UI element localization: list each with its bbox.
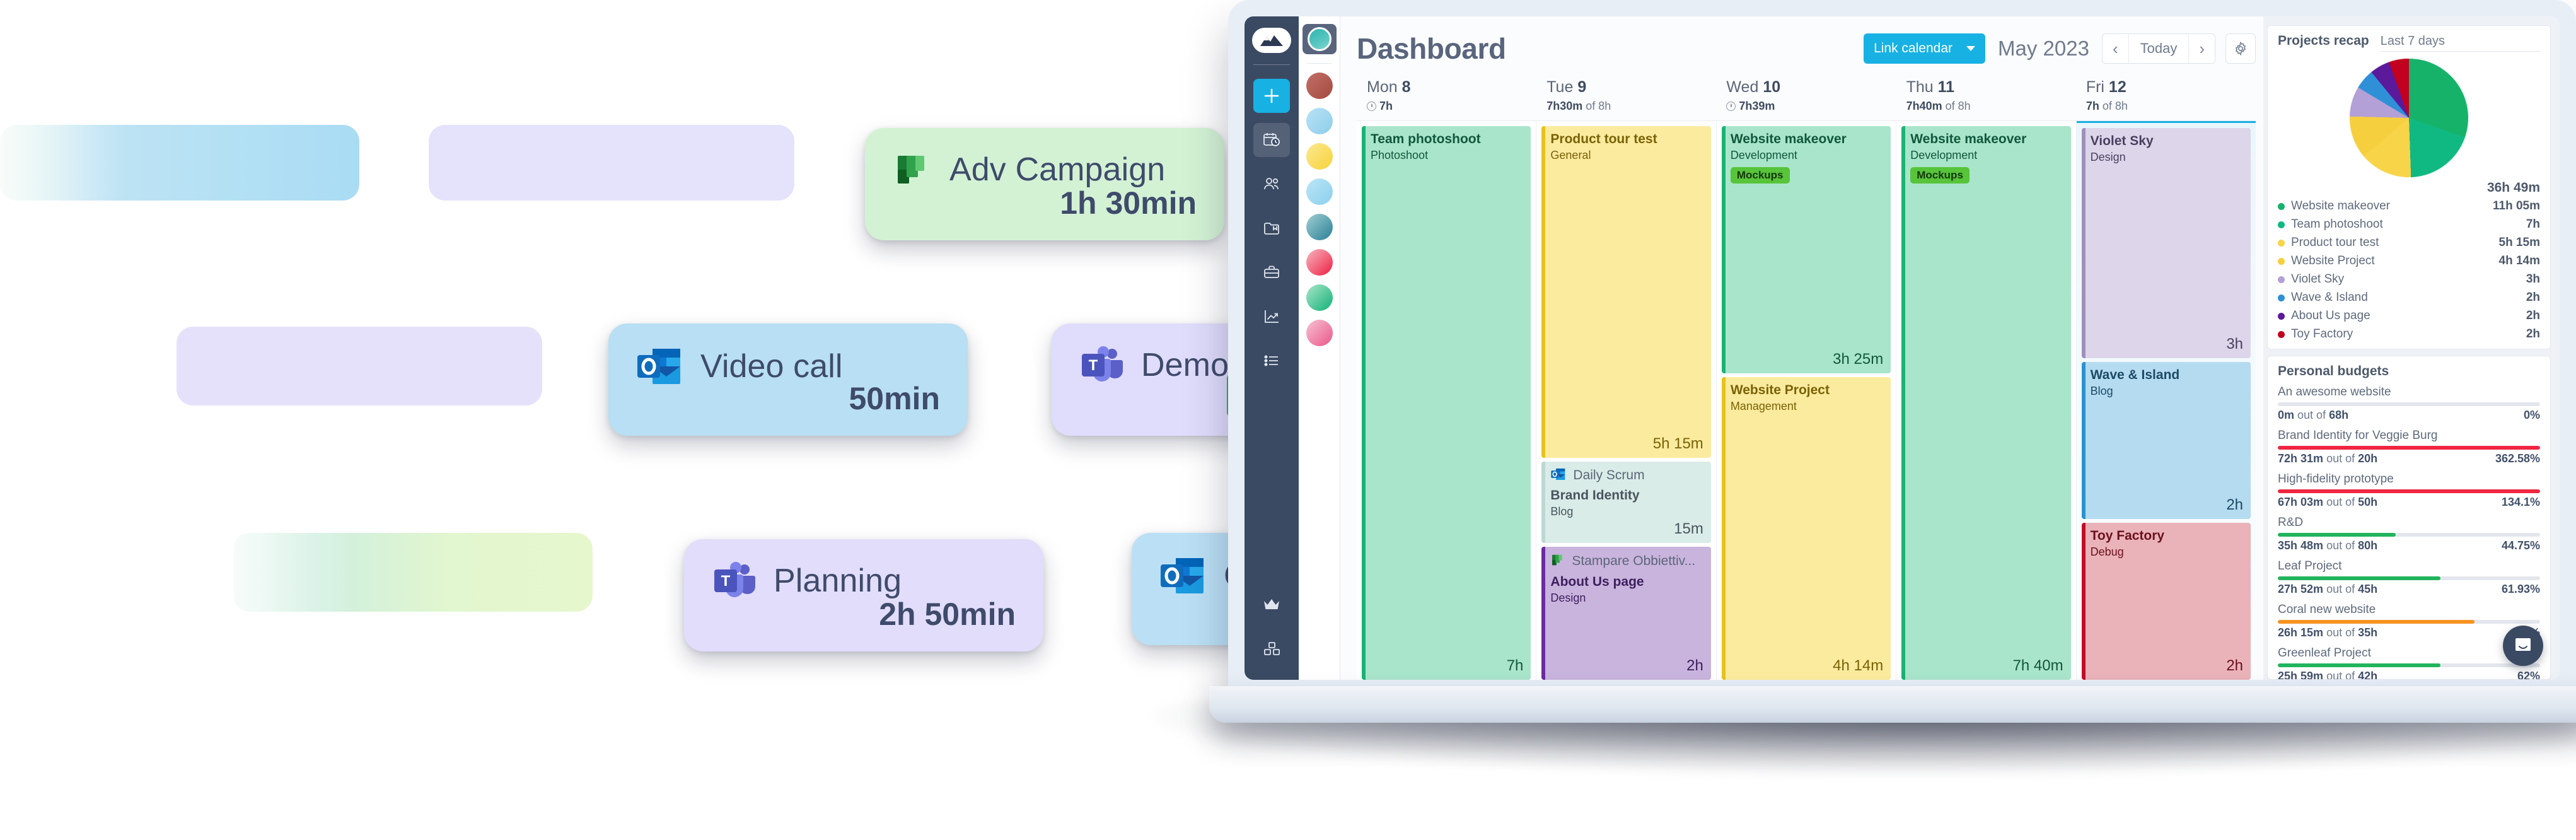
budget-of: out of (2326, 452, 2355, 465)
sidebar-item-integrations[interactable] (1253, 632, 1290, 666)
link-calendar-label: Link calendar (1874, 41, 1952, 56)
avatar[interactable] (1306, 178, 1333, 205)
budget-percent: 0% (2524, 409, 2540, 422)
legend-label: Wave & Island (2291, 291, 2520, 305)
event-source-title: Stampare Obbiettiv... (1572, 554, 1695, 569)
sidebar-item-timesheet[interactable] (1253, 123, 1290, 157)
legend-value: 7h (2526, 218, 2540, 231)
laptop-base (1209, 686, 2576, 723)
day-tracked: 7h30mof 8h (1546, 100, 1716, 113)
composition-stage: Adv Campaign 1h 30min (0, 0, 2576, 840)
event-subtitle: Debug (2091, 545, 2243, 559)
event-block[interactable]: Website makeover Development Mockups 7h … (1901, 126, 2070, 680)
legend-label: Website makeover (2291, 199, 2486, 213)
laptop-lid: Dashboard Link calendar May 2023 ‹ Today… (1228, 0, 2576, 692)
budget-spent: 26h 15m (2278, 626, 2323, 639)
sidebar-item-clients[interactable] (1253, 255, 1290, 289)
side-panel: Projects recap Last 7 days 36h 49m (2263, 16, 2560, 680)
event-block[interactable]: Toy Factory Debug 2h (2082, 523, 2251, 680)
day-column-fri: Violet Sky Design 3h Wave & Island Blog … (2077, 121, 2256, 680)
avatar[interactable] (1306, 320, 1333, 346)
legend-value: 2h (2526, 327, 2540, 341)
legend-value: 11h 05m (2493, 199, 2540, 213)
event-subtitle: Photoshoot (1371, 148, 1523, 163)
event-title: Violet Sky (2091, 134, 2243, 149)
event-subtitle: General (1550, 148, 1703, 163)
budget-item: Coral new website 26h 15m out of 35h 75% (2278, 603, 2540, 639)
budget-of: out of (2326, 583, 2355, 596)
budget-of: out of (2326, 670, 2355, 680)
event-duration: 2h (2226, 496, 2243, 514)
day-label: Mon 8 (1367, 78, 1536, 96)
event-duration: 7h 40m (2013, 657, 2063, 675)
event-subtitle: Development (1910, 148, 2063, 163)
svg-text:T: T (721, 573, 731, 590)
event-title: Brand Identity (1550, 488, 1703, 503)
recap-range-select[interactable]: Last 7 days (2381, 34, 2540, 52)
event-duration: 2h (2226, 657, 2243, 675)
budget-progress-track (2278, 446, 2540, 450)
pie-legend: Website makeover11h 05mTeam photoshoot7h… (2278, 199, 2540, 341)
event-source-row: Stampare Obbiettiv... (1550, 552, 1703, 571)
budget-meta: 25h 59m out of 42h 62% (2278, 670, 2540, 680)
budget-item: An awesome website 0m out of 68h 0% (2278, 385, 2540, 422)
legend-color-dot (2278, 221, 2285, 228)
budget-progress-fill (2278, 576, 2440, 580)
day-tracked: 7hof 8h (2086, 100, 2256, 113)
budget-percent: 61.93% (2502, 583, 2540, 596)
budget-progress-fill (2278, 446, 2540, 450)
budget-list: An awesome website 0m out of 68h 0% Bran… (2278, 385, 2540, 680)
legend-label: Toy Factory (2291, 327, 2520, 341)
microsoft-teams-icon: T (712, 561, 757, 601)
placeholder-card-lilac-mid (177, 327, 542, 405)
day-header-mon: Mon 8 7h (1357, 78, 1536, 120)
event-block[interactable]: Wave & Island Blog 2h (2082, 362, 2251, 519)
budget-item: High-fidelity prototype 67h 03m out of 5… (2278, 472, 2540, 509)
event-title: Toy Factory (2091, 528, 2243, 544)
event-title: Website makeover (1910, 132, 2063, 147)
microsoft-planner-icon (893, 149, 933, 190)
calendar-toolbar: Dashboard Link calendar May 2023 ‹ Today… (1357, 28, 2256, 78)
placeholder-card-blue (0, 125, 359, 201)
budget-total: 68h (2329, 409, 2348, 422)
budget-name: Coral new website (2278, 603, 2540, 617)
legend-color-dot (2278, 240, 2285, 247)
event-tag: Mockups (1910, 167, 1970, 184)
budget-total: 80h (2358, 539, 2377, 552)
app-screen: Dashboard Link calendar May 2023 ‹ Today… (1244, 16, 2560, 680)
budget-meta: 26h 15m out of 35h 75% (2278, 626, 2540, 639)
clock-icon (1726, 102, 1736, 111)
event-duration: 4h 14m (1833, 657, 1883, 675)
event-source-title: Daily Scrum (1573, 468, 1644, 483)
budget-item: Brand Identity for Veggie Burg 72h 31m o… (2278, 429, 2540, 465)
placeholder-card-lilac-top (429, 125, 794, 201)
legend-row: Violet Sky3h (2278, 272, 2540, 286)
prev-week-button[interactable]: ‹ (2103, 34, 2128, 63)
date-nav-group: ‹ Today › (2102, 33, 2215, 64)
legend-label: Violet Sky (2291, 272, 2520, 286)
event-title: Team photoshoot (1371, 132, 1523, 147)
budget-progress-track (2278, 533, 2540, 537)
budgets-title: Personal budgets (2278, 364, 2540, 379)
microsoft-outlook-icon (1550, 467, 1567, 484)
budget-of: out of (2326, 496, 2355, 509)
svg-text:T: T (1089, 357, 1098, 374)
budget-percent: 362.58% (2495, 452, 2540, 465)
legend-row: Team photoshoot7h (2278, 218, 2540, 231)
budget-name: Leaf Project (2278, 559, 2540, 573)
rail-divider (1253, 64, 1290, 65)
event-source-row: Daily Scrum (1550, 467, 1703, 484)
day-column-thu: Website makeover Development Mockups 7h … (1896, 121, 2076, 680)
event-block[interactable]: Website makeover Development Mockups 3h … (1722, 126, 1891, 373)
budget-spent: 35h 48m (2278, 539, 2323, 552)
day-label: Tue 9 (1546, 78, 1716, 96)
gear-icon[interactable] (2225, 33, 2256, 64)
budget-progress-track (2278, 663, 2540, 667)
budget-progress-fill (2278, 620, 2474, 624)
month-label: May 2023 (1995, 37, 2092, 61)
pie-chart-wrap (2278, 58, 2540, 178)
event-title: Website makeover (1731, 132, 1883, 147)
card-duration: 2h 50min (879, 596, 1016, 633)
projects-recap-card: Projects recap Last 7 days 36h 49m (2267, 25, 2551, 349)
budget-spent: 72h 31m (2278, 452, 2323, 465)
day-tracked: 7h39m (1726, 100, 1896, 113)
budget-total: 50h (2358, 496, 2377, 509)
event-title: Website Project (1731, 383, 1883, 398)
card-duration: 50min (849, 380, 940, 417)
event-subtitle: Blog (1550, 505, 1703, 519)
budget-progress-track (2278, 402, 2540, 406)
budget-percent: 62% (2517, 670, 2540, 680)
current-user-avatar[interactable] (1303, 24, 1337, 54)
chevron-down-icon (1966, 46, 1975, 51)
card-adv-campaign[interactable]: Adv Campaign 1h 30min (865, 128, 1224, 240)
placeholder-card-green (233, 533, 593, 612)
event-block[interactable]: Product tour test General 5h 15m (1541, 126, 1710, 458)
legend-value: 2h (2526, 291, 2540, 305)
card-title: Video call (700, 347, 843, 385)
day-tracked: 7h40mof 8h (1906, 100, 2076, 113)
legend-label: Product tour test (2291, 236, 2493, 250)
day-header-tue: Tue 9 7h30mof 8h (1536, 78, 1716, 120)
budget-progress-fill (2278, 489, 2540, 493)
day-header-fri: Fri 12 7hof 8h (2076, 78, 2256, 120)
avatar-divider (1307, 63, 1332, 64)
legend-value: 5h 15m (2499, 236, 2540, 250)
card-title: Adv Campaign (949, 151, 1165, 189)
card-title: Planning (774, 562, 902, 600)
budget-of: out of (2326, 626, 2355, 639)
legend-value: 4h 14m (2499, 254, 2540, 268)
budget-spent: 27h 52m (2278, 583, 2323, 596)
legend-color-dot (2278, 295, 2285, 301)
legend-label: About Us page (2291, 309, 2520, 323)
budget-item: R&D 35h 48m out of 80h 44.75% (2278, 516, 2540, 552)
budget-percent: 44.75% (2502, 539, 2540, 552)
day-column-tue: Product tour test General 5h 15m (1536, 121, 1716, 680)
day-label: Thu 11 (1906, 78, 2076, 96)
event-duration: 2h (1686, 657, 1703, 675)
laptop-mockup: Dashboard Link calendar May 2023 ‹ Today… (1228, 0, 2576, 771)
event-title: About Us page (1550, 575, 1703, 590)
avatar[interactable] (1306, 284, 1333, 311)
event-duration: 5h 15m (1653, 435, 1703, 453)
recap-title: Projects recap (2278, 33, 2369, 49)
day-tracked: 7h (1367, 100, 1536, 113)
day-label: Fri 12 (2086, 78, 2256, 96)
nav-rail (1244, 16, 1299, 680)
budget-spent: 0m (2278, 409, 2294, 422)
budget-spent: 67h 03m (2278, 496, 2323, 509)
event-duration: 7h (1507, 657, 1524, 675)
event-block[interactable]: Website Project Management 4h 14m (1722, 377, 1891, 680)
next-week-button[interactable]: › (2188, 34, 2215, 63)
legend-row: Website makeover11h 05m (2278, 199, 2540, 213)
budget-name: R&D (2278, 516, 2540, 530)
link-calendar-button[interactable]: Link calendar (1864, 33, 1985, 64)
day-header-thu: Thu 11 7h40mof 8h (1896, 78, 2076, 120)
calendar-area: Dashboard Link calendar May 2023 ‹ Today… (1340, 16, 2263, 680)
budget-meta: 27h 52m out of 45h 61.93% (2278, 583, 2540, 596)
event-subtitle: Development (1731, 148, 1883, 163)
sidebar-item-settings[interactable] (1253, 344, 1290, 378)
event-subtitle: Blog (2091, 384, 2243, 399)
legend-color-dot (2278, 276, 2285, 283)
legend-row: Wave & Island2h (2278, 291, 2540, 305)
legend-label: Team photoshoot (2291, 218, 2520, 231)
microsoft-teams-icon: T (1079, 345, 1125, 385)
budget-progress-track (2278, 489, 2540, 493)
budget-item: Greenleaf Project 25h 59m out of 42h 62% (2278, 646, 2540, 680)
legend-row: Product tour test5h 15m (2278, 236, 2540, 250)
budget-name: Greenleaf Project (2278, 646, 2540, 660)
day-header-row: Mon 8 7h Tue 9 7h30mof 8h Wed 10 7h39m (1357, 78, 2256, 121)
avatar[interactable] (1306, 143, 1333, 170)
avatar[interactable] (1306, 214, 1333, 240)
budget-total: 35h (2358, 626, 2377, 639)
card-video-call[interactable]: Video call 50min (608, 324, 968, 436)
budget-meta: 35h 48m out of 80h 44.75% (2278, 539, 2540, 552)
legend-color-dot (2278, 313, 2285, 320)
microsoft-planner-icon (1550, 552, 1565, 571)
budget-total: 20h (2358, 452, 2377, 465)
sidebar-item-upgrade[interactable] (1253, 588, 1290, 622)
budget-meta: 0m out of 68h 0% (2278, 409, 2540, 422)
event-title: Product tour test (1550, 132, 1703, 147)
event-subtitle: Design (2091, 150, 2243, 165)
budget-progress-fill (2278, 533, 2396, 537)
microsoft-outlook-icon (636, 345, 684, 388)
legend-row: About Us page2h (2278, 309, 2540, 323)
event-block[interactable]: Daily Scrum Brand Identity Blog 15m (1541, 462, 1710, 543)
microsoft-outlook-icon (1159, 554, 1207, 597)
sidebar-item-projects[interactable] (1253, 211, 1290, 245)
budget-meta: 72h 31m out of 20h 362.58% (2278, 452, 2540, 465)
budget-progress-track (2278, 620, 2540, 624)
mountain-logo-icon[interactable] (1252, 28, 1291, 53)
budget-total: 45h (2358, 583, 2377, 596)
budget-name: Brand Identity for Veggie Burg (2278, 429, 2540, 443)
event-block[interactable]: Stampare Obbiettiv... About Us page Desi… (1541, 547, 1710, 680)
clock-icon (1367, 102, 1376, 111)
legend-color-dot (2278, 258, 2285, 265)
legend-label: Website Project (2291, 254, 2493, 268)
avatar[interactable] (1306, 73, 1333, 99)
budget-of: out of (2297, 409, 2326, 422)
card-planning[interactable]: T Planning 2h 50min (684, 539, 1043, 651)
budget-progress-track (2278, 576, 2540, 580)
recap-total: 36h 49m (2487, 180, 2540, 195)
day-column-mon: Team photoshoot Photoshoot 7h (1357, 121, 1536, 680)
sidebar-item-add[interactable] (1253, 79, 1290, 113)
event-subtitle: Design (1550, 591, 1703, 605)
pie-chart (2349, 58, 2469, 178)
sidebar-item-reports[interactable] (1253, 300, 1290, 334)
day-grid: Team photoshoot Photoshoot 7h Product to… (1357, 121, 2256, 680)
day-column-wed: Website makeover Development Mockups 3h … (1717, 121, 1896, 680)
budget-total: 42h (2358, 670, 2377, 680)
event-duration: 3h (2226, 335, 2243, 353)
legend-value: 2h (2526, 309, 2540, 323)
budget-percent: 134.1% (2502, 496, 2540, 509)
budget-of: out of (2326, 539, 2355, 552)
card-duration: 1h 30min (1060, 185, 1197, 221)
event-subtitle: Management (1731, 399, 1883, 414)
budget-name: An awesome website (2278, 385, 2540, 399)
day-header-wed: Wed 10 7h39m (1716, 78, 1896, 120)
day-label: Wed 10 (1726, 78, 1896, 96)
legend-row: Toy Factory2h (2278, 327, 2540, 341)
legend-row: Website Project4h 14m (2278, 254, 2540, 268)
today-button[interactable]: Today (2128, 34, 2189, 63)
event-duration: 15m (1674, 520, 1703, 538)
budget-spent: 25h 59m (2278, 670, 2323, 680)
budget-meta: 67h 03m out of 50h 134.1% (2278, 496, 2540, 509)
legend-color-dot (2278, 203, 2285, 210)
legend-value: 3h (2526, 272, 2540, 286)
budget-progress-fill (2278, 663, 2440, 667)
workspace: Dashboard Link calendar May 2023 ‹ Today… (1340, 16, 2560, 680)
budget-item: Leaf Project 27h 52m out of 45h 61.93% (2278, 559, 2540, 596)
avatar-rail (1299, 16, 1340, 680)
avatar[interactable] (1306, 249, 1333, 276)
event-block[interactable]: Violet Sky Design 3h (2082, 128, 2251, 358)
legend-color-dot (2278, 331, 2285, 338)
chat-bubble-icon[interactable] (2503, 626, 2543, 666)
event-block[interactable]: Team photoshoot Photoshoot 7h (1362, 126, 1531, 680)
recap-header: Projects recap Last 7 days (2278, 33, 2540, 52)
event-tag: Mockups (1731, 167, 1790, 184)
page-title: Dashboard (1357, 32, 1506, 66)
sidebar-item-people[interactable] (1253, 167, 1290, 201)
event-title: Wave & Island (2091, 368, 2243, 383)
budget-name: High-fidelity prototype (2278, 472, 2540, 486)
event-duration: 3h 25m (1833, 351, 1883, 368)
avatar[interactable] (1306, 108, 1333, 134)
